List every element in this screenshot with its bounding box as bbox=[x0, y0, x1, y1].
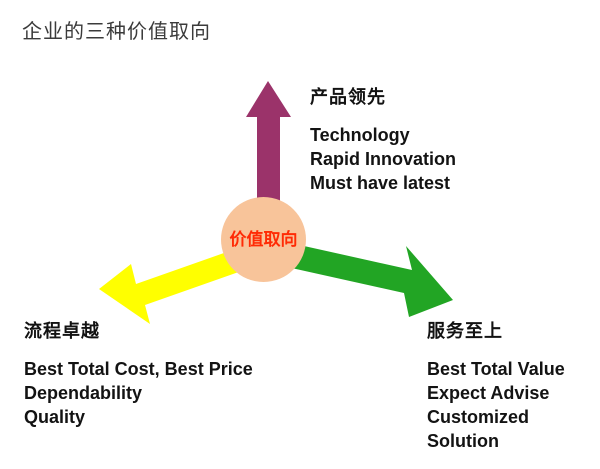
block-line: Customized bbox=[427, 405, 597, 429]
block-line: Technology bbox=[310, 123, 456, 147]
block-product-lines: Technology Rapid Innovation Must have la… bbox=[310, 123, 456, 195]
block-line: Rapid Innovation bbox=[310, 147, 456, 171]
hub-label: 价值取向 bbox=[230, 231, 298, 248]
center-hub: 价值取向 bbox=[221, 197, 306, 282]
block-service-heading: 服务至上 bbox=[427, 317, 597, 343]
block-line: Best Total Cost, Best Price bbox=[24, 357, 274, 381]
block-service-lines: Best Total Value Expect Advise Customize… bbox=[427, 357, 597, 453]
block-line: Must have latest bbox=[310, 171, 456, 195]
down-right-arrow-customer-intimacy bbox=[278, 242, 453, 317]
block-product-heading: 产品领先 bbox=[310, 83, 456, 109]
diagram-canvas: 企业的三种价值取向 价值取向 产品领先 Technology Rapid Inn… bbox=[0, 0, 600, 469]
block-line: Solution bbox=[427, 429, 597, 453]
block-line: Dependability bbox=[24, 381, 274, 405]
block-process-heading: 流程卓越 bbox=[24, 317, 274, 343]
block-customer-intimacy: 服务至上 Best Total Value Expect Advise Cust… bbox=[427, 317, 597, 453]
block-operational-excellence: 流程卓越 Best Total Cost, Best Price Dependa… bbox=[24, 317, 274, 429]
block-line: Quality bbox=[24, 405, 274, 429]
block-line: Best Total Value bbox=[427, 357, 597, 381]
block-line: Expect Advise bbox=[427, 381, 597, 405]
block-process-lines: Best Total Cost, Best Price Dependabilit… bbox=[24, 357, 274, 429]
block-product-leadership: 产品领先 Technology Rapid Innovation Must ha… bbox=[310, 83, 456, 195]
